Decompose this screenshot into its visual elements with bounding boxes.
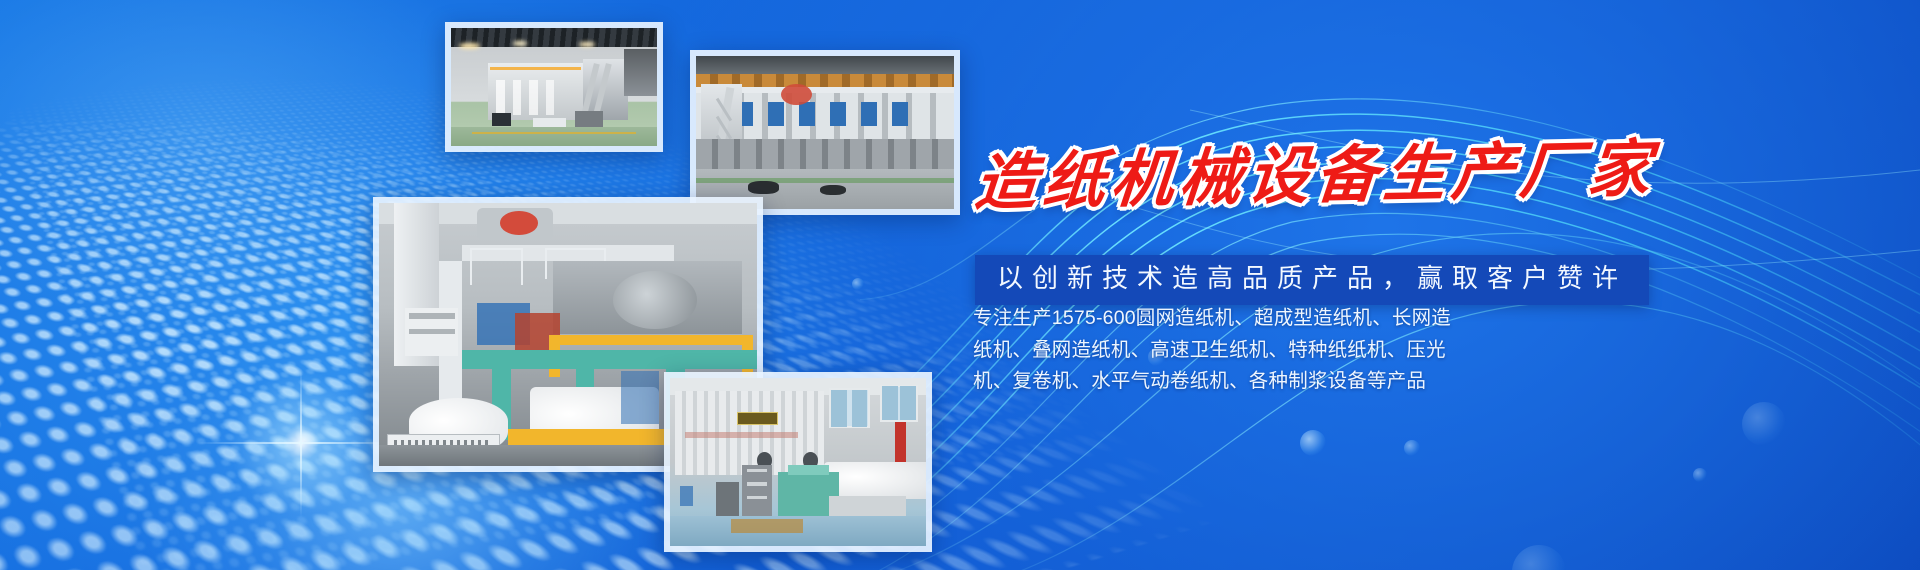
promo-banner: 造纸机械设备生产厂家 以创新技术造高品质产品，赢取客户赞许 专注生产1575-6…: [0, 0, 1920, 570]
photo-paper-machine-line-upper: [690, 50, 960, 215]
bokeh-dot-7: [1742, 402, 1786, 446]
subtitle-banner: 以创新技术造高品质产品，赢取客户赞许: [975, 255, 1649, 305]
product-description: 专注生产1575-600圆网造纸机、超成型造纸机、长网造纸机、叠网造纸机、高速卫…: [973, 303, 1463, 398]
bokeh-dot-8: [1512, 545, 1566, 570]
photo-paper-machine-hall-top: [445, 22, 663, 152]
page-title: 造纸机械设备生产厂家: [972, 138, 1659, 214]
bokeh-dot-4: [1693, 468, 1707, 482]
photo-paper-machine-dryer-bottom: [664, 372, 932, 552]
